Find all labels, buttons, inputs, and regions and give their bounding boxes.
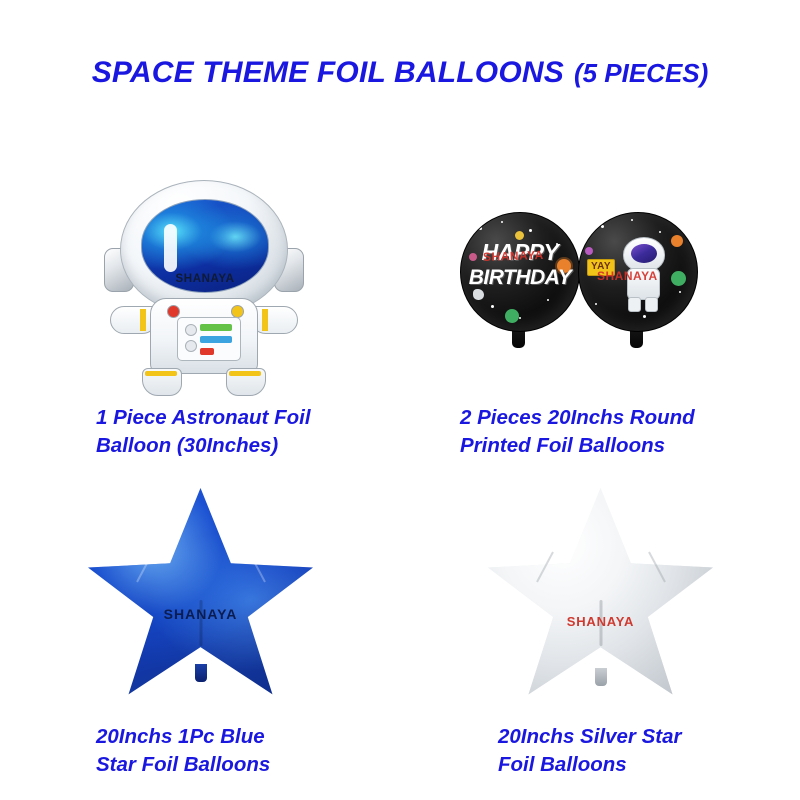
rocket-icon [473,289,484,300]
planet-green-earth [671,271,686,286]
pieces-count-label: (5 PIECES) [574,58,708,88]
page-title-text: SPACE THEME FOIL BALLOONS [92,56,564,89]
printed-astronaut-leg-left [628,297,641,312]
star-speck [643,315,646,318]
star-speck [659,231,661,233]
star-foil-balloon-icon: SHANAYA [88,488,313,703]
printed-astronaut-visor [631,244,657,263]
blue-star-art: SHANAYA [0,470,400,715]
round-caption-line-2: Printed Foil Balloons [460,432,800,460]
brand-watermark: SHANAYA [483,248,544,264]
boot-band-right [229,371,261,376]
planet-orange [671,235,683,247]
panel-strip-blue [200,336,232,343]
star-speck [529,229,532,232]
panel-strip-green [200,324,232,331]
star-foil-balloon-icon: SHANAYA [488,488,713,703]
astronaut-cuff-left [140,309,146,331]
round-balloons-art: HAPPY BIRTHDAY SHANAYA [400,160,800,405]
astronaut-chest-panel [177,317,241,361]
astronaut-visor: SHANAYA [141,199,269,293]
star-speck [631,219,633,221]
star-speck [519,317,521,319]
star-speck [501,221,503,223]
round-caption: 2 Pieces 20Inchs Round Printed Foil Ball… [400,404,800,459]
silver-star-caption: 20Inchs Silver Star Foil Balloons [400,723,800,778]
astronaut-balloon-art: SHANAYA [0,160,400,405]
planet-purple [585,247,593,255]
star-speck [601,225,604,228]
panel-knob-upper [185,324,197,336]
boot-band-left [145,371,177,376]
astronaut-suit-body [150,298,258,374]
page-title: SPACE THEME FOIL BALLOONS(5 PIECES) [0,56,800,90]
printed-astronaut-helmet [623,237,665,272]
star-speck [491,305,494,308]
star-speck [595,303,597,305]
product-item-round-printed: HAPPY BIRTHDAY SHANAYA [400,160,800,460]
silver-star-art: SHANAYA [400,470,800,715]
silver-star-caption-line-1: 20Inchs Silver Star [498,723,800,751]
round-foil-balloon-icon: YAY SHANAYA [578,212,698,332]
astronaut-balloon-icon: SHANAYA [108,180,298,395]
balloon-nozzle [195,664,207,682]
astronaut-helmet: SHANAYA [120,180,288,314]
panel-strip-red [200,348,214,355]
birthday-text: BIRTHDAY [461,267,579,288]
star-speck [479,227,482,230]
astronaut-cuff-right [262,309,268,331]
product-item-silver-star: SHANAYA 20Inchs Silver Star Foil Balloon… [400,470,800,770]
brand-watermark: SHANAYA [88,606,313,622]
balloon-nozzle [595,668,607,686]
astronaut-boot-left [142,368,182,396]
astronaut-boot-right [226,368,266,396]
product-item-blue-star: SHANAYA 20Inchs 1Pc Blue Star Foil Ballo… [0,470,400,770]
silver-star-caption-line-2: Foil Balloons [498,751,800,779]
planet-green-earth [505,309,519,323]
printed-astronaut-leg-right [645,297,658,312]
brand-watermark: SHANAYA [597,269,658,283]
brand-watermark: SHANAYA [488,614,713,629]
round-foil-balloon-icon: HAPPY BIRTHDAY SHANAYA [460,212,580,332]
star-speck [547,299,549,301]
visor-glint [164,224,177,272]
product-item-astronaut: SHANAYA [0,160,400,460]
round-caption-line-1: 2 Pieces 20Inchs Round [460,404,800,432]
star-speck [679,291,681,293]
suit-button-red [167,305,180,318]
brand-watermark: SHANAYA [142,273,268,285]
panel-knob-lower [185,340,197,352]
